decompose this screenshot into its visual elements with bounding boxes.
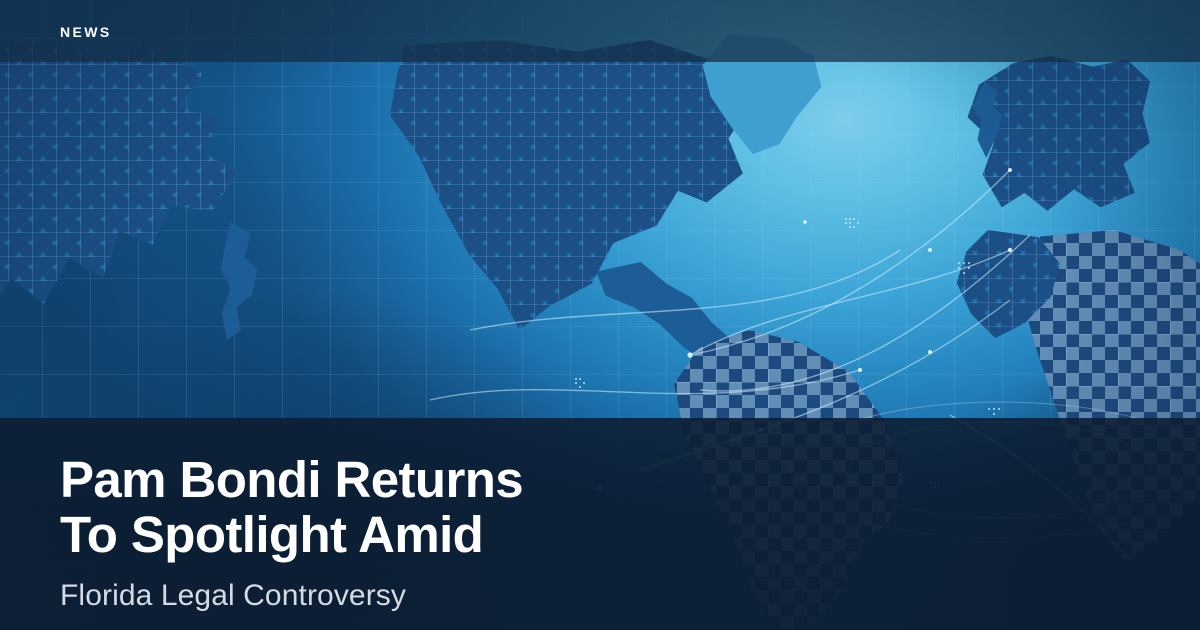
headline-line-2: To Spotlight Amid bbox=[60, 507, 760, 562]
page-subtitle: Florida Legal Controversy bbox=[60, 578, 406, 614]
news-card: NEWS Pam Bondi Returns To Spotlight Amid… bbox=[0, 0, 1200, 630]
news-kicker-label: NEWS bbox=[60, 24, 112, 40]
page-title: Pam Bondi Returns To Spotlight Amid bbox=[60, 452, 760, 562]
headline-line-1: Pam Bondi Returns bbox=[60, 452, 760, 507]
top-overlay-band bbox=[0, 0, 1200, 62]
